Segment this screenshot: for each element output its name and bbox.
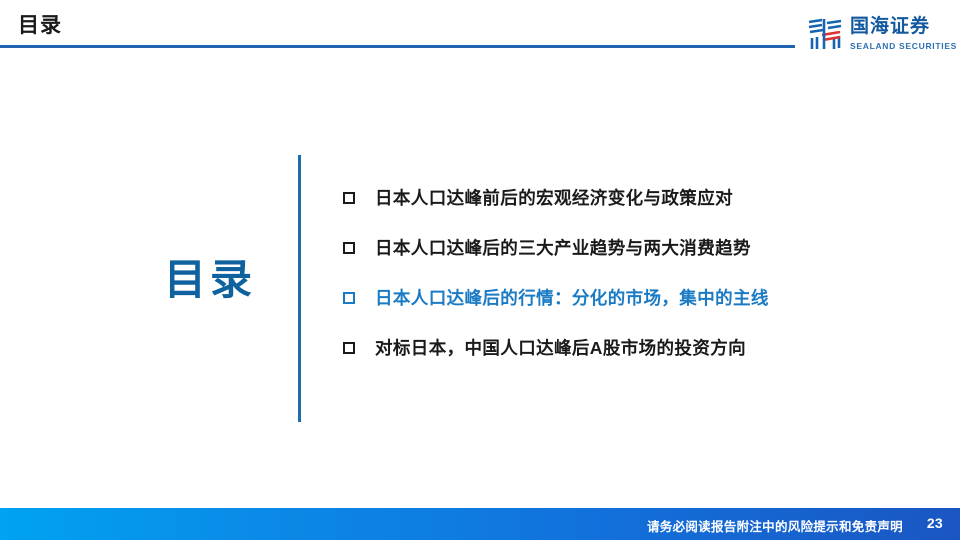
slide-footer: 请务必阅读报告附注中的风险提示和免责声明 23 bbox=[0, 508, 960, 540]
section-title: 目录 bbox=[150, 254, 270, 306]
slide-header: 目录 bbox=[0, 0, 960, 60]
slide-body: 目录 日本人口达峰前后的宏观经济变化与政策应对 日本人口达峰后的三大产业趋势与两… bbox=[0, 60, 960, 500]
hollow-square-bullet-icon bbox=[343, 242, 355, 254]
brand-logo-text: 国海证券 SEALAND SECURITIES bbox=[850, 16, 957, 52]
page-title: 目录 bbox=[18, 12, 62, 40]
disclaimer-text: 请务必阅读报告附注中的风险提示和免责声明 bbox=[647, 516, 903, 535]
toc-item-3-active[interactable]: 日本人口达峰后的行情：分化的市场，集中的主线 bbox=[343, 285, 903, 335]
toc-item-label: 日本人口达峰后的三大产业趋势与两大消费趋势 bbox=[375, 235, 751, 261]
toc-item-label: 对标日本，中国人口达峰后A股市场的投资方向 bbox=[375, 335, 746, 361]
toc-item-label: 日本人口达峰前后的宏观经济变化与政策应对 bbox=[375, 185, 733, 211]
slide: 目录 bbox=[0, 0, 960, 540]
toc-item-4[interactable]: 对标日本，中国人口达峰后A股市场的投资方向 bbox=[343, 335, 903, 385]
brand-name-cn: 国海证券 bbox=[850, 16, 957, 38]
brand-logo: 国海证券 SEALAND SECURITIES bbox=[806, 12, 948, 56]
header-divider-rule bbox=[0, 45, 795, 48]
page-number: 23 bbox=[927, 515, 943, 531]
brand-name-en: SEALAND SECURITIES bbox=[850, 40, 957, 52]
sealand-logo-mark-icon bbox=[806, 16, 844, 52]
toc-item-2[interactable]: 日本人口达峰后的三大产业趋势与两大消费趋势 bbox=[343, 235, 903, 285]
toc-item-1[interactable]: 日本人口达峰前后的宏观经济变化与政策应对 bbox=[343, 185, 903, 235]
hollow-square-bullet-icon bbox=[343, 192, 355, 204]
toc-item-label: 日本人口达峰后的行情：分化的市场，集中的主线 bbox=[375, 285, 769, 311]
hollow-square-bullet-icon bbox=[343, 342, 355, 354]
hollow-square-bullet-icon bbox=[343, 292, 355, 304]
vertical-divider bbox=[298, 155, 301, 422]
table-of-contents: 日本人口达峰前后的宏观经济变化与政策应对 日本人口达峰后的三大产业趋势与两大消费… bbox=[343, 185, 903, 385]
